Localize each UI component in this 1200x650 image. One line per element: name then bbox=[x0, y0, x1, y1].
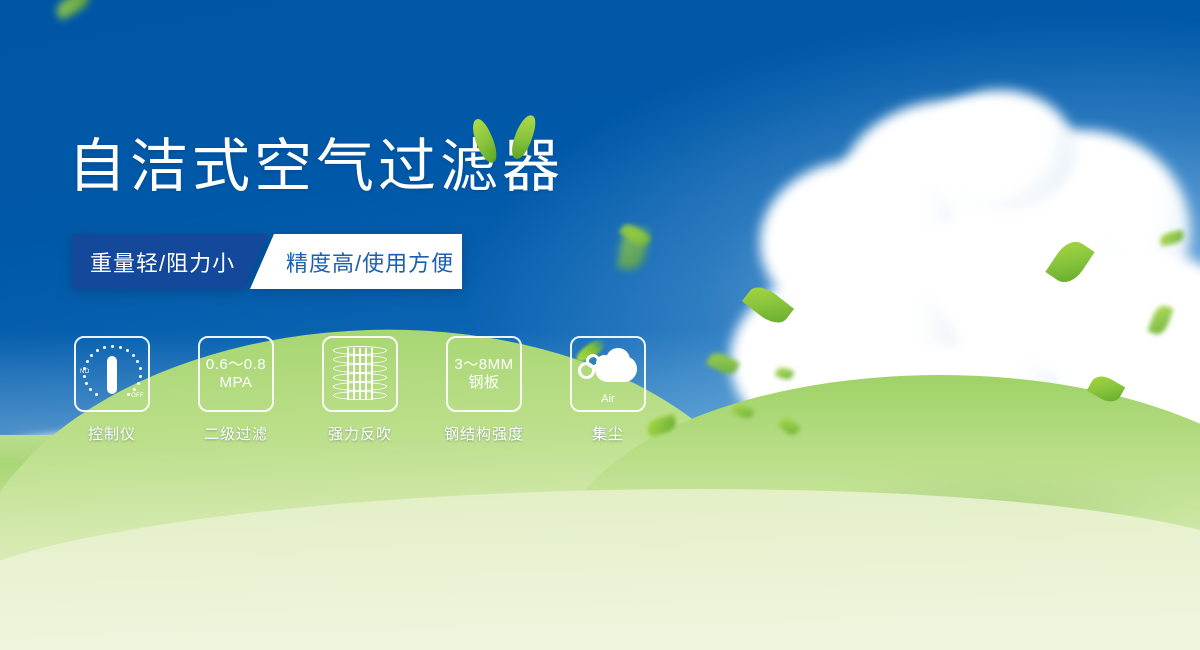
feature-icon-row: NO OFF 控制仪 0.6～0.8 MPA 二级过滤 bbox=[72, 336, 648, 444]
feature-item-backblow[interactable]: 强力反吹 bbox=[320, 336, 400, 444]
feature-label: 集尘 bbox=[592, 423, 624, 444]
subtitle-primary-text: 重量轻/阻力小 bbox=[72, 246, 235, 278]
feature-label: 钢结构强度 bbox=[444, 423, 524, 444]
air-cloud-icon: Air bbox=[576, 346, 640, 402]
feature-label: 强力反吹 bbox=[328, 423, 392, 444]
feature-icon-box: 0.6～0.8 MPA bbox=[198, 336, 274, 412]
feature-item-steel-strength[interactable]: 3～8MM 钢板 钢结构强度 bbox=[444, 336, 524, 444]
feature-icon-box: 3～8MM 钢板 bbox=[446, 336, 522, 412]
feature-icon-box bbox=[322, 336, 398, 412]
subtitle-secondary-panel: 精度高/使用方便 bbox=[250, 234, 462, 289]
gauge-icon: NO OFF bbox=[81, 343, 143, 405]
gauge-needle bbox=[107, 356, 117, 394]
feature-item-two-stage-filter[interactable]: 0.6～0.8 MPA 二级过滤 bbox=[196, 336, 276, 444]
gauge-label-off: OFF bbox=[131, 393, 144, 399]
steel-plate-text: 3～8MM 钢板 bbox=[454, 356, 513, 393]
filter-stack-icon bbox=[333, 346, 387, 402]
subtitle-secondary-text: 精度高/使用方便 bbox=[250, 246, 454, 278]
pressure-value-text: 0.6～0.8 MPA bbox=[206, 356, 266, 393]
subtitle-primary-panel: 重量轻/阻力小 bbox=[72, 234, 268, 289]
feature-icon-box: NO OFF bbox=[74, 336, 150, 412]
feature-label: 控制仪 bbox=[88, 423, 136, 444]
feature-item-dust-collection[interactable]: Air 集尘 bbox=[568, 336, 648, 444]
feature-item-controller[interactable]: NO OFF 控制仪 bbox=[72, 336, 152, 444]
product-hero-banner: 自洁式空气过滤器 重量轻/阻力小 精度高/使用方便 bbox=[0, 0, 1200, 650]
feature-icon-box: Air bbox=[570, 336, 646, 412]
subtitle-bar: 重量轻/阻力小 精度高/使用方便 bbox=[72, 234, 462, 289]
feature-label: 二级过滤 bbox=[204, 423, 268, 444]
air-label: Air bbox=[576, 393, 640, 405]
gauge-label-on: NO bbox=[80, 369, 90, 375]
